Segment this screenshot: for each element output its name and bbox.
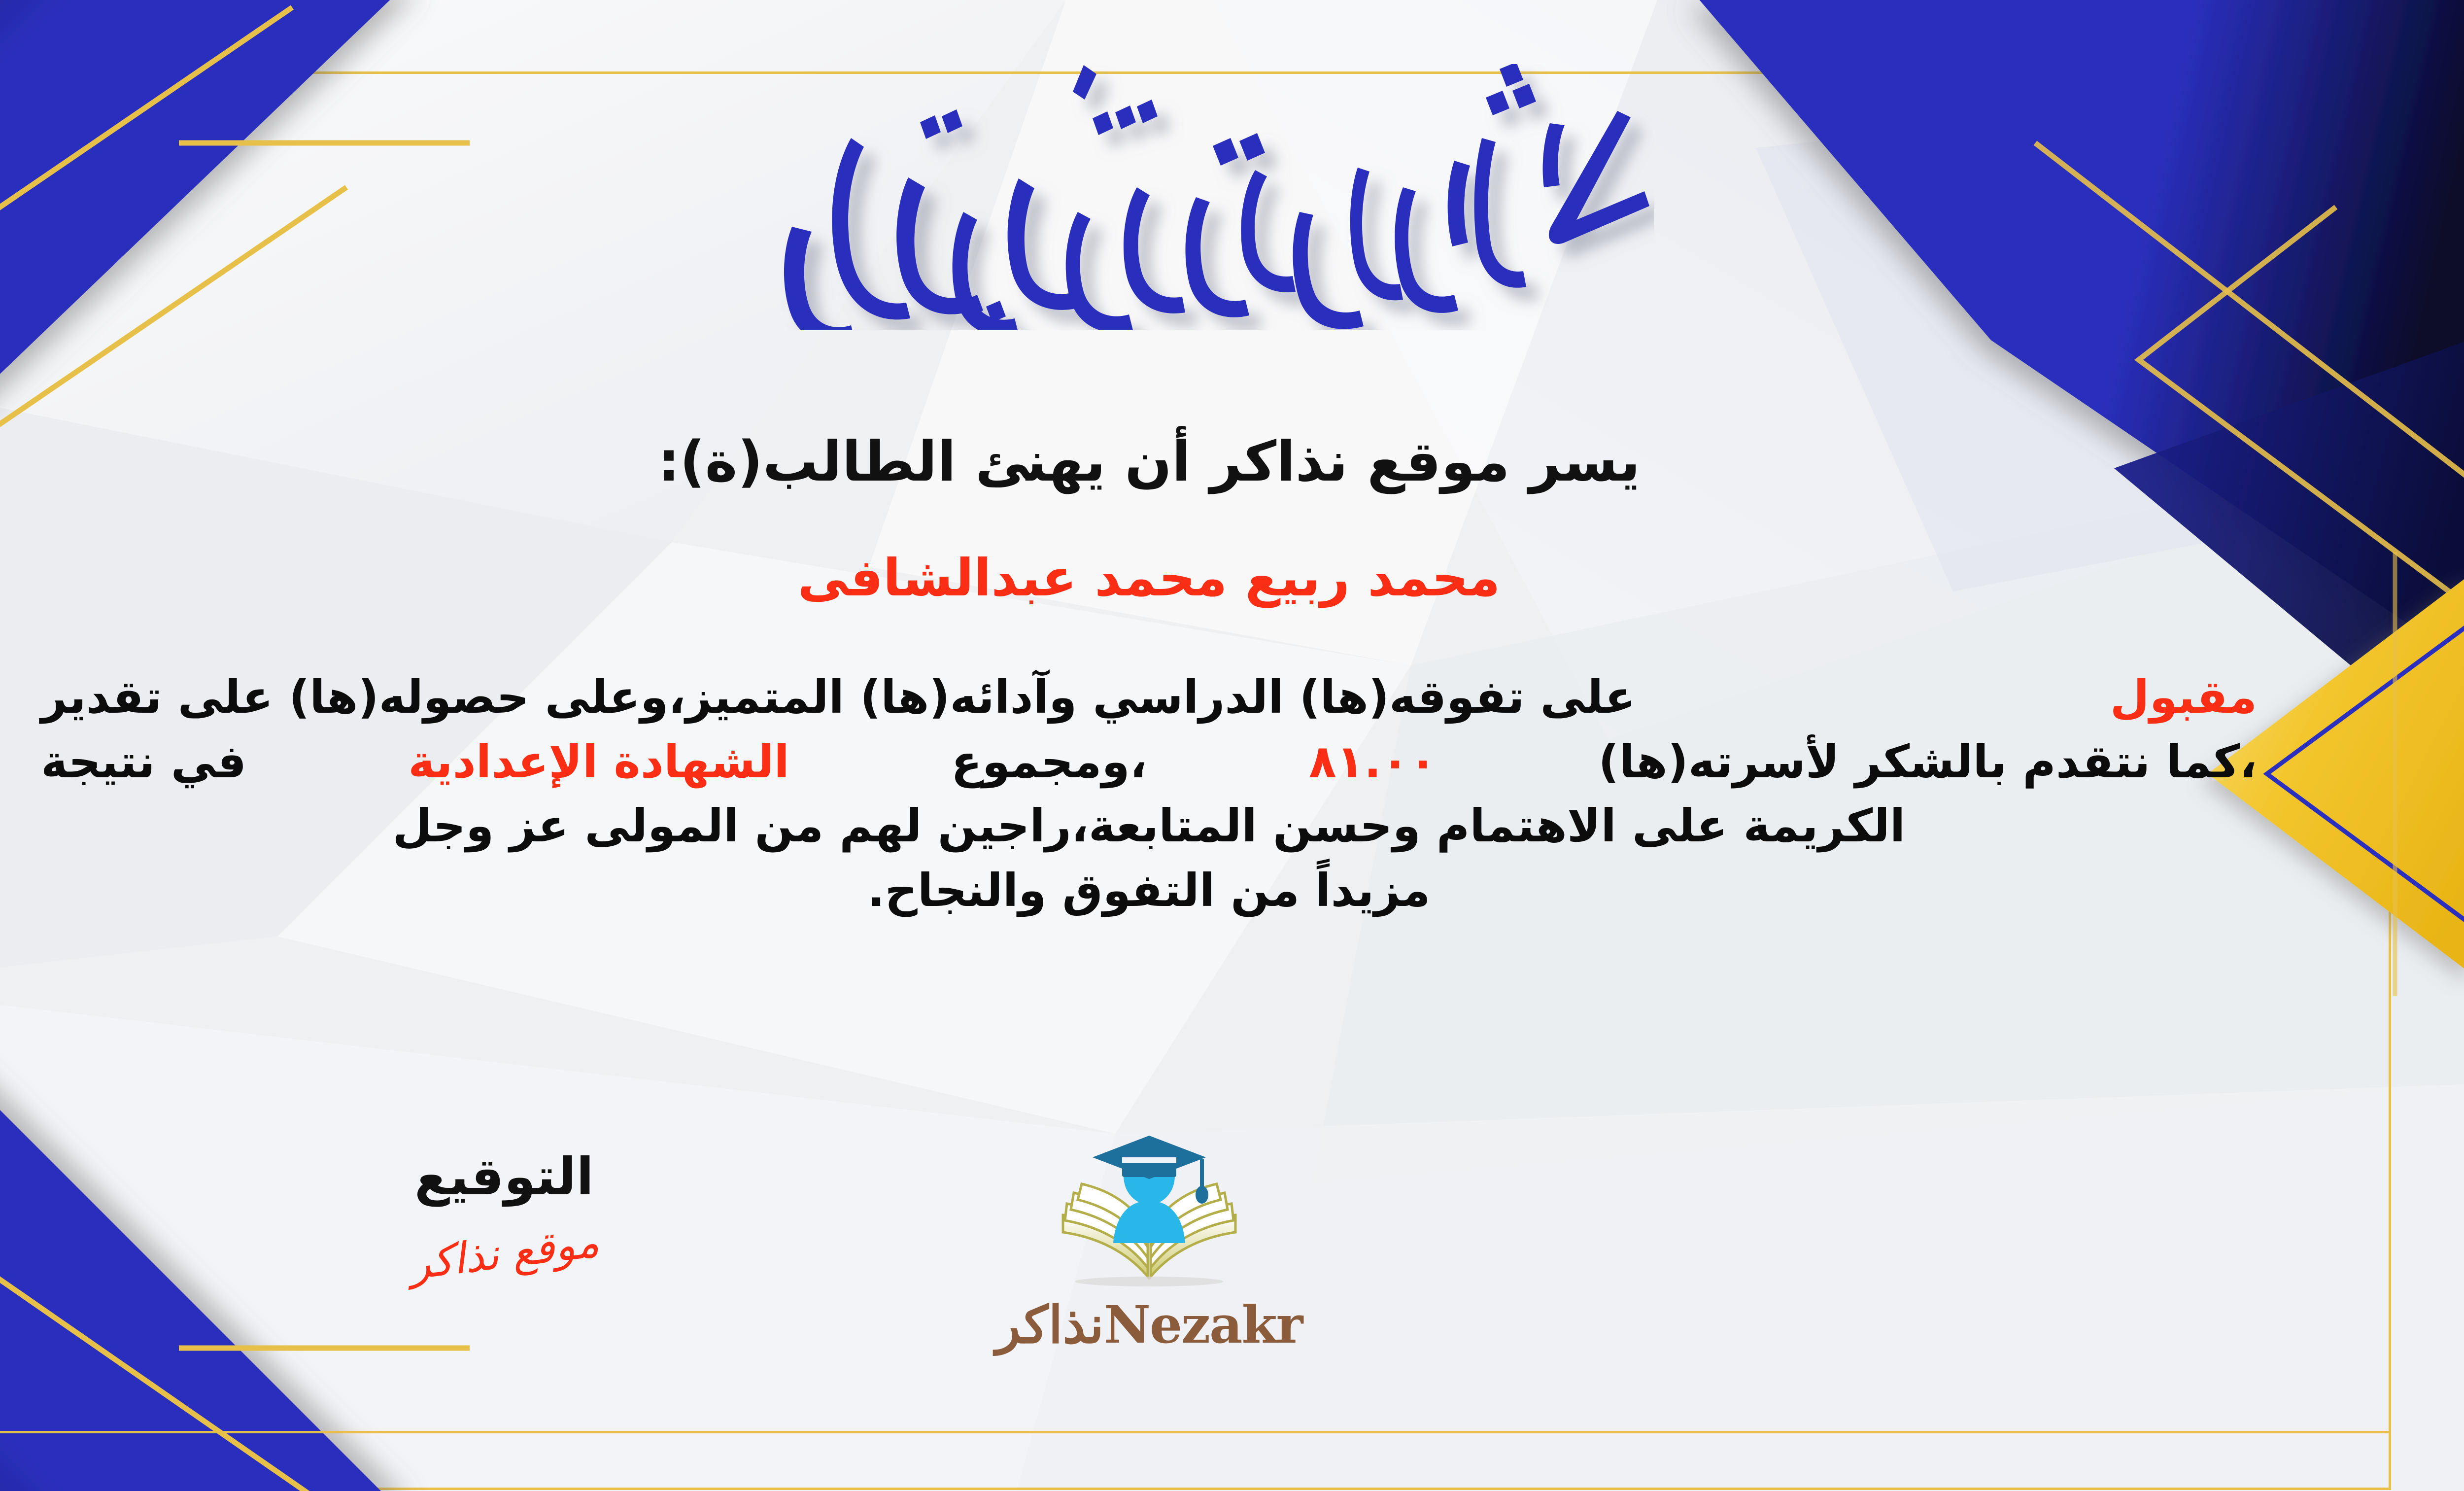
signature-mark: موقع نذاكر (407, 1221, 601, 1286)
body-paragraph: مقبول على تفوقه(ها) الدراسي وآدائه(ها) ا… (41, 665, 2257, 923)
certificate-canvas: يسر موقع نذاكر أن يهنئ الطالب(ة): محمد ر… (0, 0, 2464, 1491)
certificate-name-value: الشهادة الإعدادية (408, 730, 789, 795)
body-line-2-left-text: ،كما نتقدم بالشكر لأسرته(ها) (1598, 730, 2257, 795)
body-line-3: الكريمة على الاهتمام وحسن المتابعة،راجين… (41, 794, 2257, 859)
intro-line: يسر موقع نذاكر أن يهنئ الطالب(ة): (0, 429, 2341, 495)
student-name: محمد ربيع محمد عبدالشافى (0, 547, 2341, 609)
body-line-1-text: على تفوقه(ها) الدراسي وآدائه(ها) المتميز… (41, 665, 1636, 730)
body-line-4: مزيداً من التفوق والنجاح. (41, 859, 2257, 923)
brand-logo: Nezakrنذاكر (927, 1129, 1371, 1355)
certificate-title (0, 59, 2341, 335)
signature-block: التوقيع موقع نذاكر (351, 1148, 657, 1275)
body-line-1: مقبول على تفوقه(ها) الدراسي وآدائه(ها) ا… (41, 665, 2257, 730)
body-line-2: ،كما نتقدم بالشكر لأسرته(ها) ٨١.٠٠ ،ومجم… (41, 730, 2257, 795)
body-line-2-right-text: في نتيجة (41, 730, 246, 795)
body-line-2-mid-text: ،ومجموع (951, 730, 1147, 795)
gold-border-bottom (0, 1431, 2391, 1433)
signature-label: التوقيع (351, 1148, 657, 1205)
certificate-content: يسر موقع نذاكر أن يهنئ الطالب(ة): محمد ر… (0, 0, 2341, 1491)
logo-wordmark: Nezakrنذاكر (927, 1294, 1371, 1355)
grade-value: مقبول (2110, 665, 2257, 730)
total-score-value: ٨١.٠٠ (1309, 730, 1437, 795)
graduate-book-icon (1043, 1129, 1255, 1291)
calligraphy-title-shahadat-taqdir (644, 64, 1654, 330)
